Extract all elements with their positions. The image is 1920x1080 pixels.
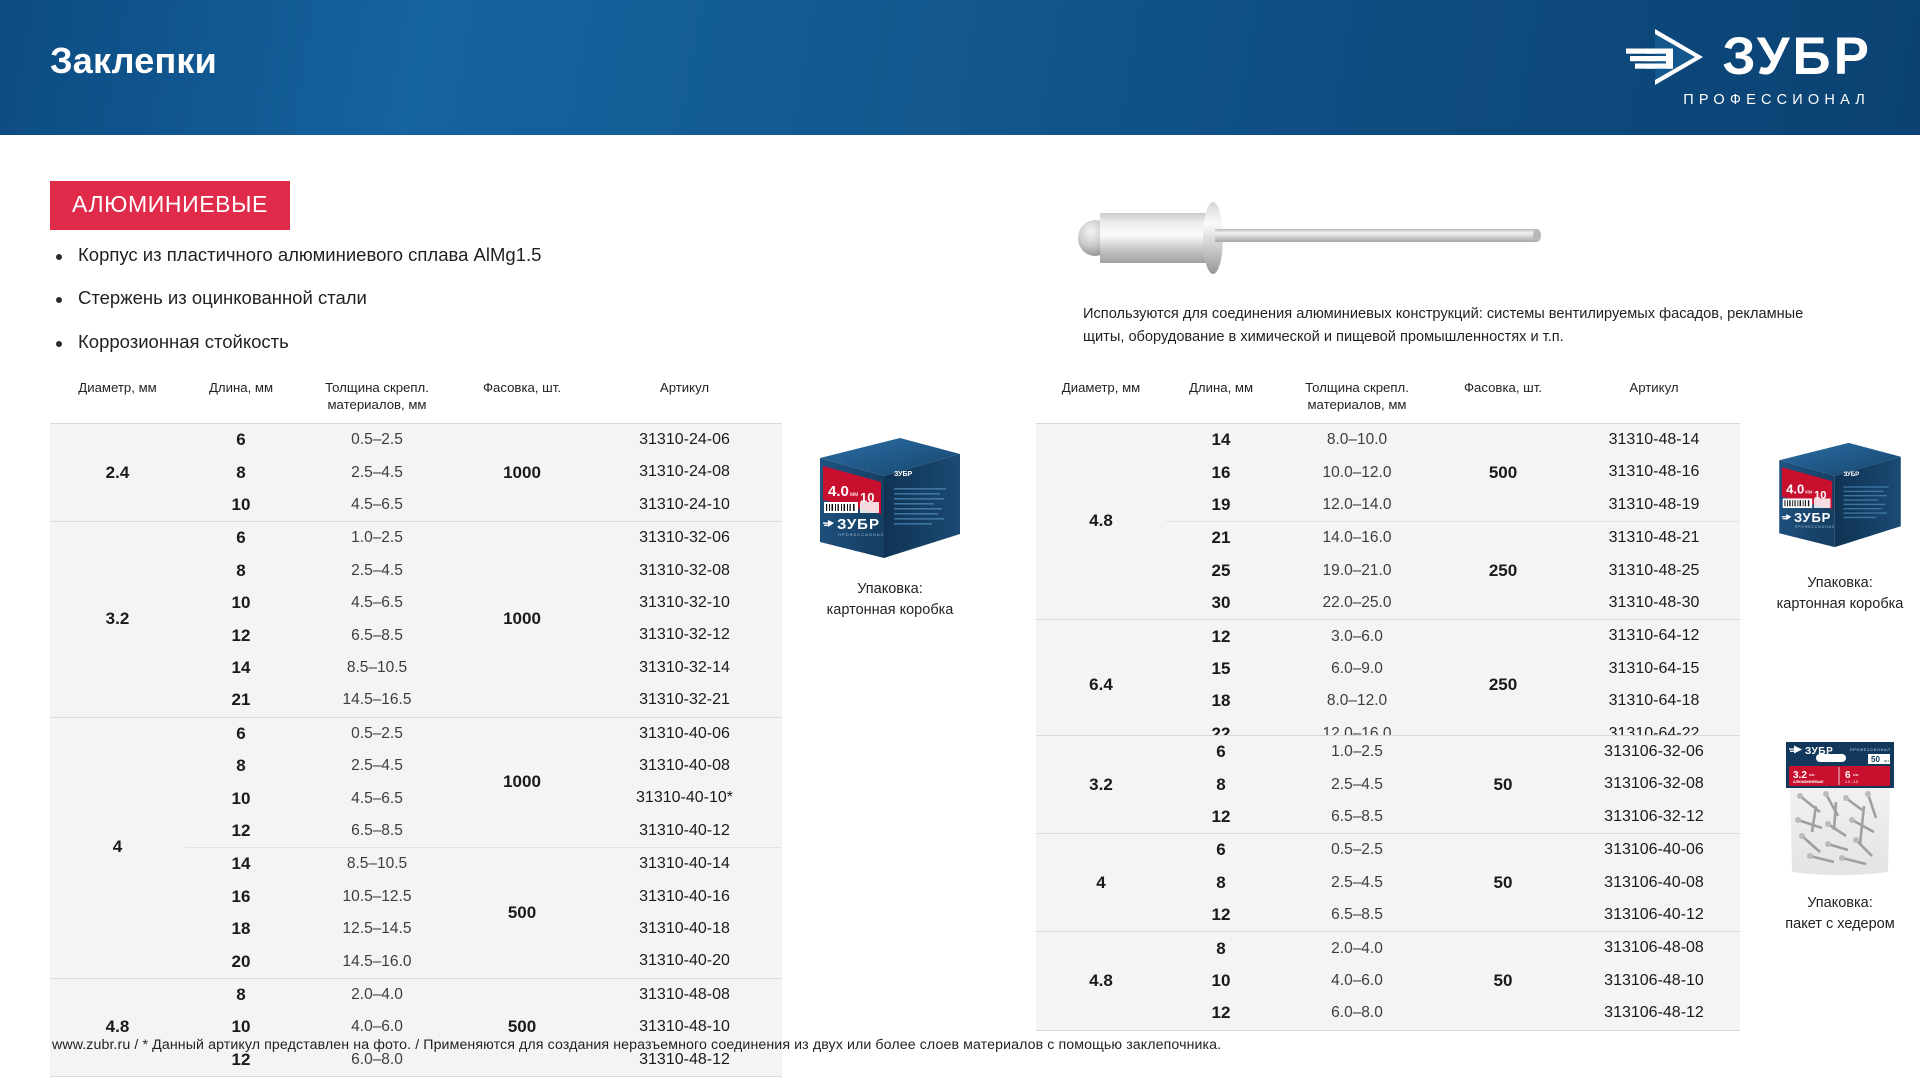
brand-wordmark: ЗУБР — [1722, 32, 1872, 82]
table-row: 82.5–4.5 — [1166, 867, 1438, 899]
col-header-thickness-line2: материалов, мм — [1307, 397, 1406, 412]
table-group: 3.261.0–2.582.5–4.5104.5–6.5126.5–8.5148… — [50, 521, 782, 716]
table-subgroup: 61.0–2.582.5–4.5104.5–6.5126.5–8.5148.5–… — [185, 522, 782, 716]
cell-article: 31310-40-08 — [587, 750, 782, 782]
cell-packing: 1000 — [457, 424, 587, 521]
cell-thickness: 2.5–4.5 — [297, 464, 457, 482]
cell-length: 14 — [1166, 430, 1276, 450]
cell-length: 30 — [1166, 593, 1276, 613]
package-caption-line2: картонная коробка — [1777, 596, 1904, 612]
cell-article: 31310-32-06 — [587, 522, 782, 554]
cell-length: 25 — [1166, 561, 1276, 581]
cell-length: 19 — [1166, 495, 1276, 515]
cell-article: 31310-40-18 — [587, 913, 782, 945]
table-row: 82.5–4.5 — [1166, 768, 1438, 800]
cell-article: 31310-32-08 — [587, 555, 782, 587]
footer-note: www.zubr.ru / * Данный артикул представл… — [52, 1037, 1221, 1053]
svg-text:ПРОФЕССИОНАЛ: ПРОФЕССИОНАЛ — [1850, 748, 1890, 752]
table-row: 60.5–2.5 — [185, 424, 457, 456]
cell-article: 31310-40-06 — [587, 718, 782, 750]
package-caption-line2: картонная коробка — [827, 602, 954, 618]
col-header-thickness: Толщина скрепл. материалов, мм — [297, 378, 457, 413]
header-bag-icon: ЗУБР ПРОФЕССИОНАЛ 50 шт 3.2 мм АЛЮМИНИЕВ… — [1776, 740, 1904, 878]
cell-article: 31310-32-14 — [587, 652, 782, 684]
svg-text:50: 50 — [1871, 755, 1880, 764]
cell-diameter: 4.8 — [1036, 932, 1166, 1029]
cell-diameter: 4.8 — [50, 979, 185, 1076]
table-row: 104.0–6.0 — [1166, 965, 1438, 997]
table-header-row: Диаметр, мм Длина, мм Толщина скрепл. ма… — [1036, 378, 1740, 423]
cardboard-box-icon: 4.0 мм 10 ЗУБР ПРОФЕССИОНАЛ — [814, 432, 966, 564]
table-row: 126.5–8.5 — [185, 815, 457, 847]
cell-thickness: 6.5–8.5 — [297, 627, 457, 645]
table-row: 148.5–10.5 — [185, 848, 457, 880]
svg-text:4.0: 4.0 — [828, 483, 849, 500]
cell-article: 31310-40-16 — [587, 881, 782, 913]
cell-article: 313106-40-08 — [1568, 867, 1740, 899]
cell-thickness: 19.0–21.0 — [1276, 562, 1438, 580]
svg-text:ПРОФЕССИОНАЛ: ПРОФЕССИОНАЛ — [1795, 525, 1835, 529]
cell-packing: 250 — [1438, 620, 1568, 750]
table-subgroup: 123.0–6.0156.0–9.0188.0–12.02212.0–16.02… — [1166, 620, 1740, 750]
table-row: 60.5–2.5 — [1166, 834, 1438, 866]
list-item: Коррозионная стойкость — [52, 330, 692, 355]
package-figure-box-left: 4.0 мм 10 ЗУБР ПРОФЕССИОНАЛ — [790, 432, 990, 621]
cell-thickness: 10.5–12.5 — [297, 888, 457, 906]
cell-length: 10 — [185, 495, 297, 515]
cell-length: 16 — [185, 887, 297, 907]
cell-thickness: 6.5–8.5 — [1276, 906, 1438, 924]
table-row: 104.5–6.5 — [185, 489, 457, 521]
table-header-row: Диаметр, мм Длина, мм Толщина скрепл. ма… — [50, 378, 782, 423]
table-subgroup: 2114.0–16.02519.0–21.03022.0–25.02503131… — [1166, 521, 1740, 619]
cell-length: 12 — [185, 821, 297, 841]
svg-text:мм: мм — [1853, 772, 1859, 777]
cell-article: 313106-32-06 — [1568, 736, 1740, 768]
table-row: 61.0–2.5 — [1166, 736, 1438, 768]
cell-thickness: 6.0–9.0 — [1276, 660, 1438, 678]
cell-length: 8 — [185, 985, 297, 1005]
product-datasheet-page: Заклепки ЗУБР ПРОФЕССИОНАЛ АЛЮМИНИЕ — [0, 0, 1920, 1080]
cell-packing: 50 — [1438, 834, 1568, 931]
col-header-diameter: Диаметр, мм — [50, 378, 185, 413]
page-title: Заклепки — [50, 40, 217, 82]
table-subgroup: 82.0–4.0104.0–6.0126.0–8.050313106-48-08… — [1166, 932, 1740, 1029]
table-row: 82.0–4.0 — [185, 979, 457, 1011]
table-subgroup: 82.0–4.0104.0–6.0126.0–8.050031310-48-08… — [185, 979, 782, 1076]
bullet-dot-icon — [56, 297, 62, 303]
cell-article: 31310-40-10* — [587, 782, 782, 814]
cell-thickness: 14.0–16.0 — [1276, 529, 1438, 547]
cell-length: 16 — [1166, 463, 1276, 483]
table-row: 61.0–2.5 — [185, 522, 457, 554]
table-row: 148.5–10.5 — [185, 652, 457, 684]
cell-thickness: 12.5–14.5 — [297, 920, 457, 938]
table-group: 4.8148.0–10.01610.0–12.01912.0–14.050031… — [1036, 424, 1740, 619]
rivet-product-image — [1060, 185, 1560, 290]
cell-article: 31310-40-14 — [587, 848, 782, 880]
table-group: 2.460.5–2.582.5–4.5104.5–6.5100031310-24… — [50, 424, 782, 521]
cell-thickness: 4.5–6.5 — [297, 790, 457, 808]
col-header-packing: Фасовка, шт. — [1438, 378, 1568, 413]
brand-tagline: ПРОФЕССИОНАЛ — [1683, 92, 1870, 108]
zubr-diamond-icon — [1626, 28, 1706, 86]
col-header-packing: Фасовка, шт. — [457, 378, 587, 413]
svg-text:ПРОФЕССИОНАЛ: ПРОФЕССИОНАЛ — [838, 532, 884, 537]
package-caption: Упаковка: картонная коробка — [790, 579, 990, 621]
svg-text:ЗУБР: ЗУБР — [837, 516, 880, 533]
cell-length: 8 — [1166, 775, 1276, 795]
cell-length: 8 — [185, 561, 297, 581]
cell-thickness: 0.5–2.5 — [297, 431, 457, 449]
table-row: 126.5–8.5 — [1166, 899, 1438, 931]
cell-length: 12 — [185, 626, 297, 646]
cell-article: 31310-40-20 — [587, 945, 782, 977]
table-row: 60.5–2.5 — [185, 718, 457, 750]
table-body: 2.460.5–2.582.5–4.5104.5–6.5100031310-24… — [50, 423, 782, 1077]
cell-thickness: 4.0–6.0 — [297, 1018, 457, 1036]
cell-length: 6 — [185, 430, 297, 450]
table-subgroup: 60.5–2.582.5–4.5126.5–8.550313106-40-063… — [1166, 834, 1740, 931]
cell-length: 10 — [1166, 971, 1276, 991]
cell-diameter: 4 — [50, 718, 185, 977]
cell-article: 31310-48-16 — [1568, 456, 1740, 488]
cell-thickness: 2.5–4.5 — [1276, 776, 1438, 794]
col-header-length: Длина, мм — [1166, 378, 1276, 413]
cell-thickness: 10.0–12.0 — [1276, 464, 1438, 482]
cell-packing: 500 — [1438, 424, 1568, 521]
table-subgroup: 61.0–2.582.5–4.5126.5–8.550313106-32-063… — [1166, 736, 1740, 833]
cardboard-box-icon: 4.0 мм 10 ЗУБР ПРОФЕССИОНАЛ — [1774, 432, 1906, 558]
table-row: 148.0–10.0 — [1166, 424, 1438, 456]
cell-article: 31310-48-30 — [1568, 587, 1740, 619]
table-body: 3.261.0–2.582.5–4.5126.5–8.550313106-32-… — [1036, 735, 1740, 1031]
cell-article: 31310-48-25 — [1568, 555, 1740, 587]
list-item: Стержень из оцинкованной стали — [52, 286, 692, 311]
cell-article: 313106-48-08 — [1568, 932, 1740, 964]
cell-article: 313106-32-08 — [1568, 768, 1740, 800]
table-body: 4.8148.0–10.01610.0–12.01912.0–14.050031… — [1036, 423, 1740, 751]
table-subgroup: 60.5–2.582.5–4.5104.5–6.5126.5–8.5100031… — [185, 718, 782, 848]
cell-length: 12 — [1166, 807, 1276, 827]
cell-thickness: 14.5–16.0 — [297, 953, 457, 971]
col-header-article: Артикул — [587, 378, 782, 413]
cell-thickness: 8.0–10.0 — [1276, 431, 1438, 449]
cell-length: 6 — [1166, 742, 1276, 762]
table-row: 82.5–4.5 — [185, 555, 457, 587]
table-row: 104.5–6.5 — [185, 782, 457, 814]
bullet-dot-icon — [56, 254, 62, 260]
cell-thickness: 6.5–8.5 — [1276, 808, 1438, 826]
cell-article: 31310-64-12 — [1568, 620, 1740, 652]
table-row: 123.0–6.0 — [1166, 620, 1438, 652]
svg-text:шт: шт — [1884, 758, 1889, 763]
cell-length: 10 — [185, 593, 297, 613]
cell-thickness: 1.0–2.5 — [1276, 743, 1438, 761]
svg-text:мм: мм — [1809, 772, 1815, 777]
list-item: Корпус из пластичного алюминиевого сплав… — [52, 243, 692, 268]
feature-text: Стержень из оцинкованной стали — [78, 286, 367, 311]
col-header-thickness: Толщина скрепл. материалов, мм — [1276, 378, 1438, 413]
cell-thickness: 4.5–6.5 — [297, 594, 457, 612]
col-header-thickness-line1: Толщина скрепл. — [1305, 380, 1409, 395]
cell-length: 12 — [1166, 905, 1276, 925]
feature-text: Коррозионная стойкость — [78, 330, 289, 355]
table-right-bottom: 3.261.0–2.582.5–4.5126.5–8.550313106-32-… — [1036, 735, 1740, 1031]
cell-article: 31310-48-14 — [1568, 424, 1740, 456]
cell-thickness: 6.5–8.5 — [297, 822, 457, 840]
usage-description: Используются для соединения алюминиевых … — [1083, 303, 1828, 348]
cell-article: 313106-40-12 — [1568, 899, 1740, 931]
cell-length: 6 — [185, 528, 297, 548]
col-header-article: Артикул — [1568, 378, 1740, 413]
cell-thickness: 8.0–12.0 — [1276, 692, 1438, 710]
package-caption: Упаковка: пакет с хедером — [1758, 893, 1920, 935]
cell-length: 15 — [1166, 659, 1276, 679]
cell-diameter: 4 — [1036, 834, 1166, 931]
table-row: 188.0–12.0 — [1166, 685, 1438, 717]
svg-text:мм: мм — [850, 492, 858, 498]
table-row: 2014.5–16.0 — [185, 945, 457, 977]
cell-thickness: 4.0–6.0 — [1276, 972, 1438, 990]
table-row: 156.0–9.0 — [1166, 653, 1438, 685]
bullet-dot-icon — [56, 341, 62, 347]
cell-article: 31310-32-10 — [587, 587, 782, 619]
package-figure-bag: ЗУБР ПРОФЕССИОНАЛ 50 шт 3.2 мм АЛЮМИНИЕВ… — [1758, 740, 1920, 935]
page-header: Заклепки ЗУБР ПРОФЕССИОНАЛ — [0, 0, 1920, 135]
cell-article: 31310-48-21 — [1568, 522, 1740, 554]
table-row: 104.5–6.5 — [185, 587, 457, 619]
feature-text: Корпус из пластичного алюминиевого сплав… — [78, 243, 541, 268]
cell-length: 8 — [1166, 873, 1276, 893]
table-left: Диаметр, мм Длина, мм Толщина скрепл. ма… — [50, 378, 782, 1077]
cell-article: 31310-24-08 — [587, 456, 782, 488]
svg-text:ЗУБР: ЗУБР — [894, 471, 913, 478]
package-caption-line1: Упаковка: — [857, 581, 923, 597]
package-caption-line2: пакет с хедером — [1785, 916, 1894, 932]
cell-thickness: 8.5–10.5 — [297, 855, 457, 873]
cell-length: 6 — [185, 724, 297, 744]
cell-diameter: 4.8 — [1036, 424, 1166, 618]
table-row: 82.5–4.5 — [185, 750, 457, 782]
cell-length: 8 — [1166, 939, 1276, 959]
cell-article: 31310-48-19 — [1568, 489, 1740, 521]
cell-length: 20 — [185, 952, 297, 972]
cell-thickness: 2.5–4.5 — [1276, 874, 1438, 892]
svg-text:4.0: 4.0 — [1786, 481, 1804, 496]
cell-length: 21 — [185, 690, 297, 710]
cell-length: 14 — [185, 854, 297, 874]
cell-length: 21 — [1166, 528, 1276, 548]
cell-article: 31310-24-10 — [587, 489, 782, 521]
cell-packing: 500 — [457, 848, 587, 978]
cell-thickness: 6.0–8.0 — [1276, 1004, 1438, 1022]
cell-thickness: 0.5–2.5 — [1276, 841, 1438, 859]
table-subgroup: 60.5–2.582.5–4.5104.5–6.5100031310-24-06… — [185, 424, 782, 521]
table-row: 2114.0–16.0 — [1166, 522, 1438, 554]
cell-length: 12 — [1166, 1003, 1276, 1023]
cell-article: 313106-40-06 — [1568, 834, 1740, 866]
table-row: 1812.5–14.5 — [185, 913, 457, 945]
cell-length: 8 — [185, 756, 297, 776]
table-group: 460.5–2.582.5–4.5126.5–8.550313106-40-06… — [1036, 833, 1740, 931]
cell-thickness: 0.5–2.5 — [297, 725, 457, 743]
svg-text:ЗУБР: ЗУБР — [1805, 746, 1833, 757]
table-row: 126.0–8.0 — [1166, 997, 1438, 1029]
cell-packing: 50 — [1438, 932, 1568, 1029]
cell-article: 31310-40-12 — [587, 815, 782, 847]
table-subgroup: 148.5–10.51610.5–12.51812.5–14.52014.5–1… — [185, 847, 782, 978]
table-row: 3022.0–25.0 — [1166, 587, 1438, 619]
cell-article: 313106-48-10 — [1568, 965, 1740, 997]
table-row: 1610.0–12.0 — [1166, 456, 1438, 488]
table-row: 2519.0–21.0 — [1166, 555, 1438, 587]
col-header-thickness-line1: Толщина скрепл. — [325, 380, 429, 395]
feature-list: Корпус из пластичного алюминиевого сплав… — [52, 243, 692, 373]
cell-thickness: 14.5–16.5 — [297, 691, 457, 709]
table-row: 126.5–8.5 — [185, 619, 457, 651]
cell-article: 31310-24-06 — [587, 424, 782, 456]
cell-length: 10 — [185, 789, 297, 809]
cell-packing: 500 — [457, 979, 587, 1076]
table-row: 82.0–4.0 — [1166, 932, 1438, 964]
svg-text:ЗУБР: ЗУБР — [1794, 510, 1831, 525]
cell-length: 8 — [185, 463, 297, 483]
svg-text:АЛЮМИНИЕВЫЕ: АЛЮМИНИЕВЫЕ — [1793, 780, 1824, 784]
cell-length: 14 — [185, 658, 297, 678]
col-header-length: Длина, мм — [185, 378, 297, 413]
table-subgroup: 148.0–10.01610.0–12.01912.0–14.050031310… — [1166, 424, 1740, 521]
cell-article: 313106-48-12 — [1568, 997, 1740, 1029]
svg-text:ЗУБР: ЗУБР — [1843, 472, 1859, 478]
table-right-top: Диаметр, мм Длина, мм Толщина скрепл. ма… — [1036, 378, 1740, 751]
cell-thickness: 12.0–14.0 — [1276, 496, 1438, 514]
cell-packing: 1000 — [457, 718, 587, 848]
cell-diameter: 3.2 — [50, 522, 185, 716]
cell-thickness: 8.5–10.5 — [297, 659, 457, 677]
brand-logo: ЗУБР ПРОФЕССИОНАЛ — [1626, 28, 1872, 108]
cell-length: 18 — [185, 919, 297, 939]
table-group: 3.261.0–2.582.5–4.5126.5–8.550313106-32-… — [1036, 736, 1740, 833]
cell-thickness: 1.0–2.5 — [297, 529, 457, 547]
cell-length: 12 — [1166, 627, 1276, 647]
cell-thickness: 22.0–25.0 — [1276, 594, 1438, 612]
cell-length: 18 — [1166, 691, 1276, 711]
table-row: 1610.5–12.5 — [185, 881, 457, 913]
package-caption-line1: Упаковка: — [1807, 575, 1873, 591]
table-row: 126.5–8.5 — [1166, 801, 1438, 833]
cell-thickness: 4.5–6.5 — [297, 496, 457, 514]
table-row: 2114.5–16.5 — [185, 684, 457, 716]
package-figure-box-right: 4.0 мм 10 ЗУБР ПРОФЕССИОНАЛ — [1760, 432, 1920, 615]
package-caption: Упаковка: картонная коробка — [1760, 573, 1920, 615]
cell-diameter: 2.4 — [50, 424, 185, 521]
cell-thickness: 6.0–8.0 — [297, 1051, 457, 1069]
cell-thickness: 2.5–4.5 — [297, 757, 457, 775]
col-header-thickness-line2: материалов, мм — [327, 397, 426, 412]
cell-article: 31310-64-15 — [1568, 653, 1740, 685]
cell-article: 313106-32-12 — [1568, 801, 1740, 833]
cell-packing: 1000 — [457, 522, 587, 716]
cell-article: 31310-48-08 — [587, 979, 782, 1011]
cell-length: 10 — [185, 1017, 297, 1037]
category-badge: АЛЮМИНИЕВЫЕ — [50, 181, 290, 230]
col-header-diameter: Диаметр, мм — [1036, 378, 1166, 413]
cell-thickness: 3.0–6.0 — [1276, 628, 1438, 646]
cell-length: 6 — [1166, 840, 1276, 860]
svg-text:мм: мм — [1805, 489, 1813, 495]
package-caption-line1: Упаковка: — [1807, 895, 1873, 911]
cell-thickness: 2.5–4.5 — [297, 562, 457, 580]
table-group: 4.882.0–4.0104.0–6.0126.0–8.050031310-48… — [50, 978, 782, 1076]
table-group: 4.882.0–4.0104.0–6.0126.0–8.050313106-48… — [1036, 931, 1740, 1029]
cell-diameter: 6.4 — [1036, 620, 1166, 750]
table-group: 6.4123.0–6.0156.0–9.0188.0–12.02212.0–16… — [1036, 619, 1740, 750]
table-row: 1912.0–14.0 — [1166, 489, 1438, 521]
cell-thickness: 2.0–4.0 — [1276, 940, 1438, 958]
cell-packing: 250 — [1438, 522, 1568, 619]
table-group: 460.5–2.582.5–4.5104.5–6.5126.5–8.510003… — [50, 717, 782, 978]
cell-article: 31310-32-21 — [587, 684, 782, 716]
cell-article: 31310-64-18 — [1568, 685, 1740, 717]
cell-thickness: 2.0–4.0 — [297, 986, 457, 1004]
svg-text:1.0 - 2.5: 1.0 - 2.5 — [1845, 780, 1858, 784]
cell-diameter: 3.2 — [1036, 736, 1166, 833]
table-row: 82.5–4.5 — [185, 456, 457, 488]
cell-article: 31310-32-12 — [587, 619, 782, 651]
cell-packing: 50 — [1438, 736, 1568, 833]
